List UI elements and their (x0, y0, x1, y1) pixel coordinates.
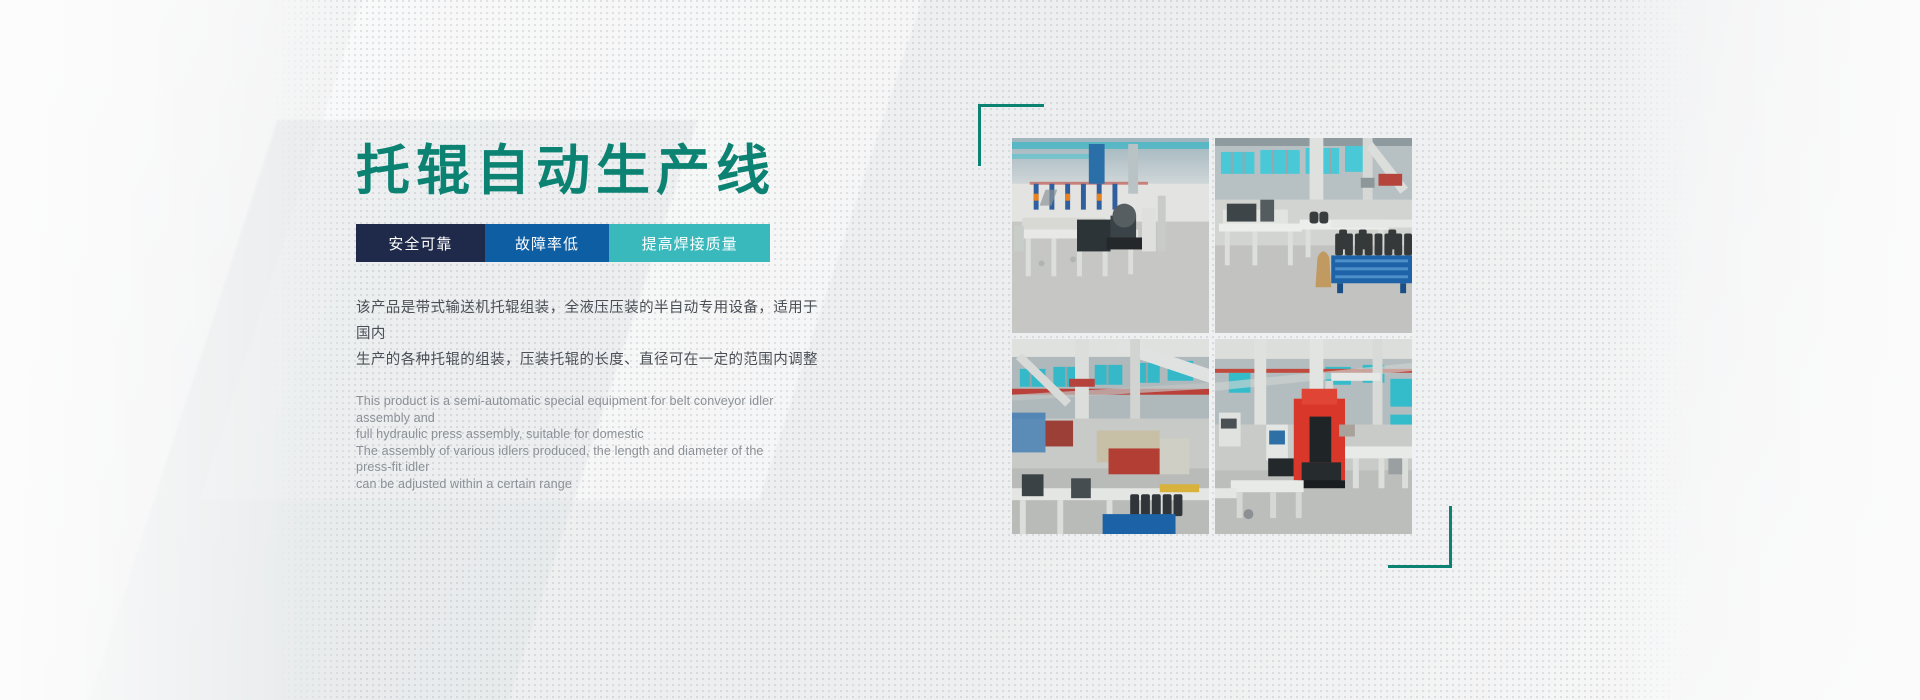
corner-bracket-bottom-right-icon (1388, 506, 1452, 568)
badge-weld-quality[interactable]: 提高焊接质量 (609, 224, 770, 262)
description-chinese: 该产品是带式输送机托辊组装，全液压压装的半自动专用设备，适用于国内 生产的各种托… (356, 295, 826, 373)
description-chinese-line-1: 该产品是带式输送机托辊组装，全液压压装的半自动专用设备，适用于国内 (356, 295, 826, 347)
description-english: This product is a semi-automatic special… (356, 393, 786, 492)
badge-safe-reliable[interactable]: 安全可靠 (356, 224, 485, 262)
background-fade-right (1620, 0, 1920, 700)
page-title: 托辊自动生产线 (356, 140, 916, 202)
photo-grid (1012, 138, 1412, 534)
feature-badge-row: 安全可靠 故障率低 提高焊接质量 (356, 224, 770, 262)
description-english-line-3: The assembly of various idlers produced,… (356, 443, 786, 476)
description-english-line-1: This product is a semi-automatic special… (356, 393, 786, 426)
photo-workbench-rollers[interactable] (1215, 138, 1412, 333)
photo-red-press-machine[interactable] (1215, 339, 1412, 534)
banner-text-column: 托辊自动生产线 安全可靠 故障率低 提高焊接质量 该产品是带式输送机托辊组装，全… (356, 140, 916, 492)
photo-gallery (1012, 138, 1412, 534)
description-chinese-line-2: 生产的各种托辊的组装，压装托辊的长度、直径可在一定的范围内调整 (356, 347, 826, 373)
photo-conveyor-line[interactable] (1012, 138, 1209, 333)
photo-welding-station[interactable] (1012, 339, 1209, 534)
description-english-line-4: can be adjusted within a certain range (356, 476, 786, 493)
product-banner: 托辊自动生产线 安全可靠 故障率低 提高焊接质量 该产品是带式输送机托辊组装，全… (0, 0, 1920, 700)
description-english-line-2: full hydraulic press assembly, suitable … (356, 426, 786, 443)
badge-low-failure[interactable]: 故障率低 (485, 224, 610, 262)
background-fade-left (0, 0, 300, 700)
